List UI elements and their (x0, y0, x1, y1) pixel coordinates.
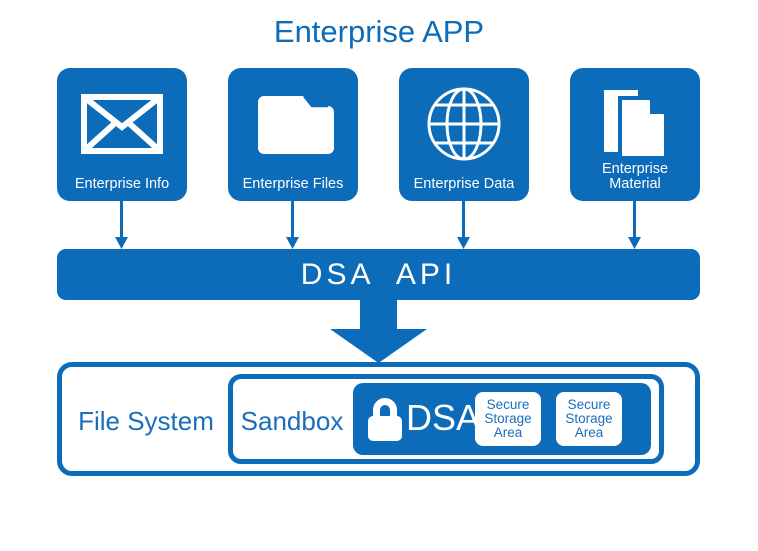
globe-icon (399, 82, 529, 166)
ssa-line: Area (575, 426, 604, 440)
app-box-label: Enterprise Data (399, 177, 529, 192)
arrow-material-to-api (628, 201, 641, 249)
envelope-icon (57, 82, 187, 166)
down-block-arrow (330, 299, 427, 363)
page-title: Enterprise APP (0, 14, 758, 50)
arrow-files-to-api (286, 201, 299, 249)
documents-icon (570, 82, 700, 166)
app-box-label: Enterprise Files (228, 177, 358, 192)
app-box-enterprise-material[interactable]: Enterprise Material (570, 68, 700, 201)
ssa-line: Storage (565, 412, 612, 426)
ssa-line: Secure (487, 398, 530, 412)
folder-icon (228, 82, 358, 166)
diagram-canvas: Enterprise APP Enterprise Info Enterpris… (0, 0, 758, 551)
arrow-data-to-api (457, 201, 470, 249)
dsa-api-label: DSA API (301, 258, 456, 292)
app-box-enterprise-files[interactable]: Enterprise Files (228, 68, 358, 201)
ssa-line: Area (494, 426, 523, 440)
arrow-info-to-api (115, 201, 128, 249)
dsa-box[interactable]: DSA Secure Storage Area Secure Storage A… (353, 383, 651, 455)
ssa-line: Secure (568, 398, 611, 412)
sandbox-label: Sandbox (234, 406, 350, 437)
dsa-label: DSA (406, 394, 480, 442)
ssa-line: Storage (484, 412, 531, 426)
file-system-label: File System (70, 406, 222, 437)
secure-storage-area-1[interactable]: Secure Storage Area (475, 392, 541, 446)
app-box-enterprise-data[interactable]: Enterprise Data (399, 68, 529, 201)
secure-storage-area-2[interactable]: Secure Storage Area (556, 392, 622, 446)
app-box-label: Enterprise Material (570, 162, 700, 192)
dsa-api-bar[interactable]: DSA API (57, 249, 700, 300)
app-box-label: Enterprise Info (57, 177, 187, 192)
lock-icon (364, 395, 406, 443)
app-box-enterprise-info[interactable]: Enterprise Info (57, 68, 187, 201)
